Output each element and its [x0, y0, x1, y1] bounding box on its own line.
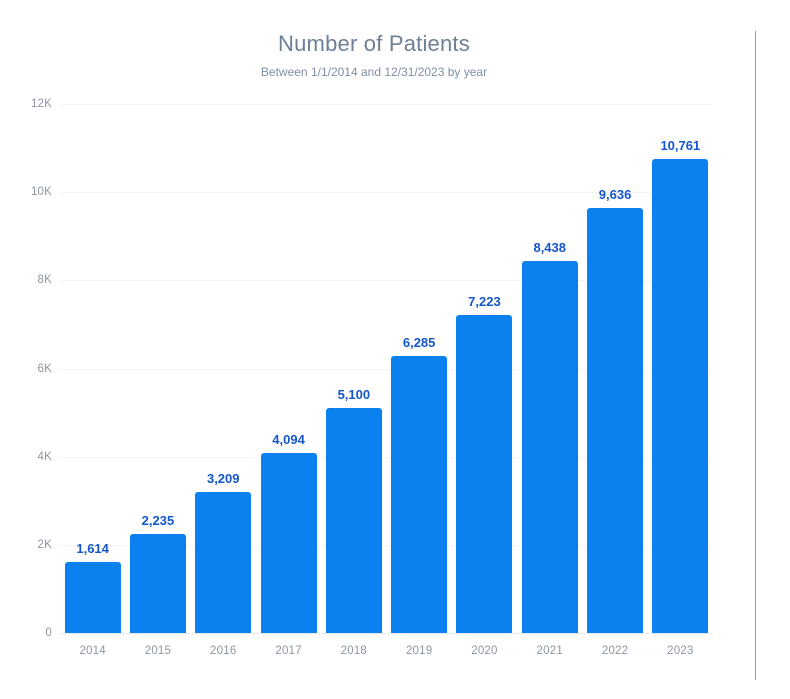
bar-slot: 3,209 — [192, 104, 254, 633]
bar-value-label: 10,761 — [643, 138, 717, 153]
bar-value-label: 6,285 — [382, 335, 456, 350]
y-axis-tick-label: 2K — [0, 539, 52, 551]
bar[interactable] — [261, 453, 317, 633]
bar[interactable] — [456, 315, 512, 633]
x-axis-tick-label: 2018 — [323, 645, 385, 657]
x-axis-tick-label: 2014 — [62, 645, 124, 657]
bar-slot: 4,094 — [258, 104, 320, 633]
bar[interactable] — [65, 562, 121, 633]
plot-area: 1,6142,2353,2094,0945,1006,2857,2238,438… — [60, 104, 713, 633]
bar[interactable] — [587, 208, 643, 633]
bar-value-label: 3,209 — [186, 471, 260, 486]
bar[interactable] — [130, 534, 186, 633]
x-axis: 2014201520162017201820192020202120222023 — [60, 645, 713, 669]
bar-slot: 8,438 — [519, 104, 581, 633]
y-axis: 02K4K6K8K10K12K — [0, 104, 52, 633]
bar-value-label: 1,614 — [56, 541, 130, 556]
bar-value-label: 8,438 — [513, 240, 587, 255]
chart-subtitle: Between 1/1/2014 and 12/31/2023 by year — [0, 64, 748, 80]
x-axis-tick-label: 2016 — [192, 645, 254, 657]
bar[interactable] — [652, 159, 708, 633]
bar-value-label: 2,235 — [121, 513, 195, 528]
bar-value-label: 7,223 — [447, 294, 521, 309]
x-axis-tick-label: 2023 — [649, 645, 711, 657]
x-axis-tick-label: 2020 — [453, 645, 515, 657]
gridline — [60, 633, 713, 634]
panel-divider — [755, 31, 756, 680]
bar-value-label: 4,094 — [252, 432, 326, 447]
x-axis-tick-label: 2022 — [584, 645, 646, 657]
y-axis-tick-label: 6K — [0, 363, 52, 375]
bar[interactable] — [326, 408, 382, 633]
x-axis-tick-label: 2017 — [258, 645, 320, 657]
bar[interactable] — [195, 492, 251, 633]
bar-slot: 2,235 — [127, 104, 189, 633]
bar-slot: 1,614 — [62, 104, 124, 633]
bar-slot: 10,761 — [649, 104, 711, 633]
y-axis-tick-label: 4K — [0, 451, 52, 463]
chart-title: Number of Patients — [0, 30, 748, 58]
bar-slot: 9,636 — [584, 104, 646, 633]
y-axis-tick-label: 12K — [0, 98, 52, 110]
y-axis-tick-label: 0 — [0, 627, 52, 639]
chart-card: Number of Patients Between 1/1/2014 and … — [0, 0, 748, 699]
x-axis-tick-label: 2021 — [519, 645, 581, 657]
bar-slot: 7,223 — [453, 104, 515, 633]
bar-slot: 5,100 — [323, 104, 385, 633]
bar[interactable] — [522, 261, 578, 633]
x-axis-tick-label: 2015 — [127, 645, 189, 657]
bar-value-label: 5,100 — [317, 387, 391, 402]
y-axis-tick-label: 10K — [0, 186, 52, 198]
bar[interactable] — [391, 356, 447, 633]
bar-value-label: 9,636 — [578, 187, 652, 202]
bar-slot: 6,285 — [388, 104, 450, 633]
y-axis-tick-label: 8K — [0, 274, 52, 286]
x-axis-tick-label: 2019 — [388, 645, 450, 657]
